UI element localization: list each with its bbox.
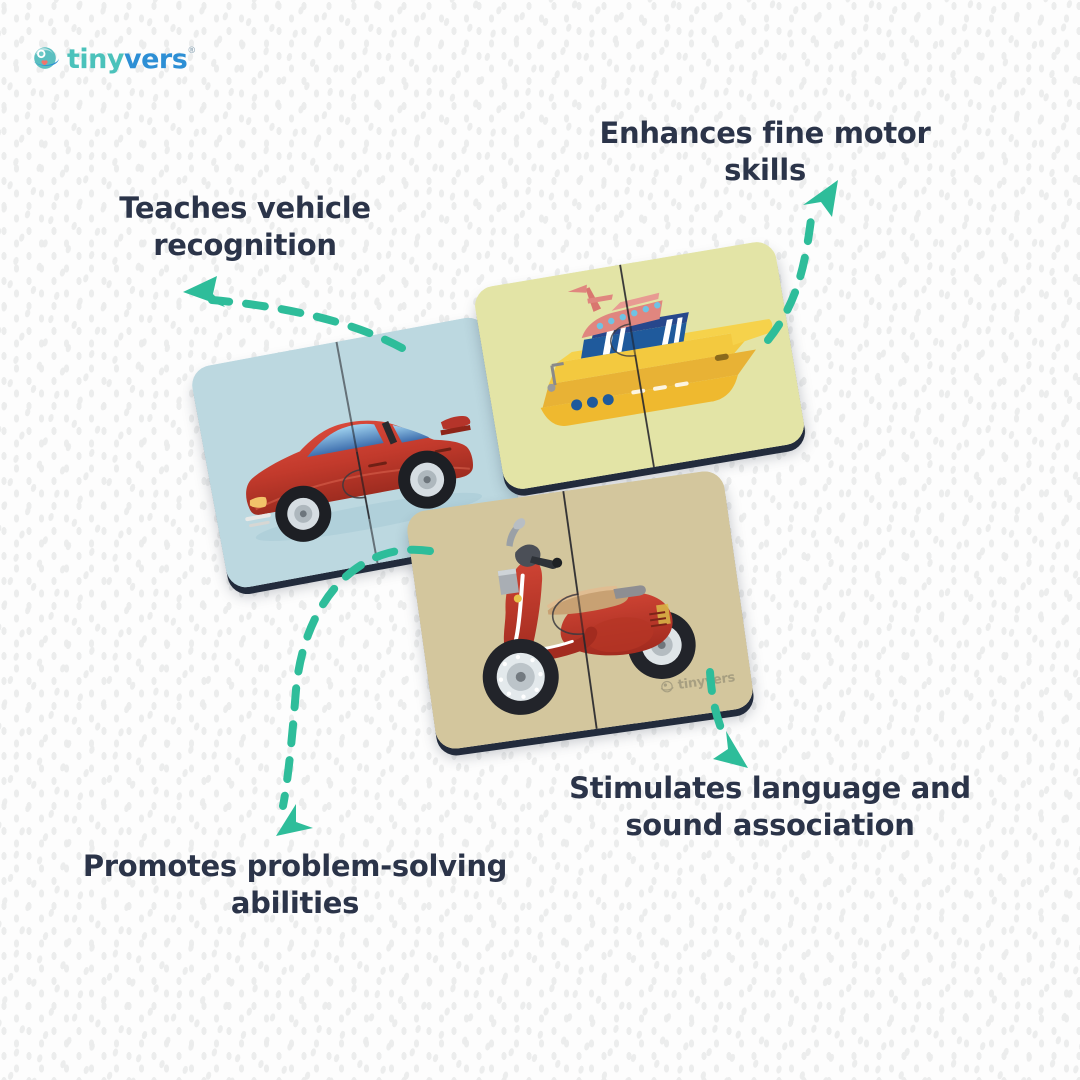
brand-name-part2: vers: [124, 46, 187, 73]
watermark-globe-icon: [658, 679, 675, 696]
scooter-puzzle-card[interactable]: tinyvers: [405, 469, 755, 751]
registered-mark: ®: [187, 47, 196, 56]
caption-fine-motor-skills: Enhances fine motor skills: [580, 115, 950, 189]
brand-logo[interactable]: tinyvers®: [30, 44, 196, 74]
brand-wordmark: tinyvers®: [67, 46, 196, 73]
caption-language-sound: Stimulates language and sound associatio…: [565, 770, 975, 844]
brand-name-part1: tiny: [67, 46, 124, 73]
tinyvers-globe-heart-icon: [30, 44, 60, 74]
infographic-canvas: tinyvers®: [0, 0, 1080, 1080]
caption-vehicle-recognition: Teaches vehicle recognition: [95, 190, 395, 264]
caption-problem-solving: Promotes problem-solving abilities: [55, 848, 535, 922]
